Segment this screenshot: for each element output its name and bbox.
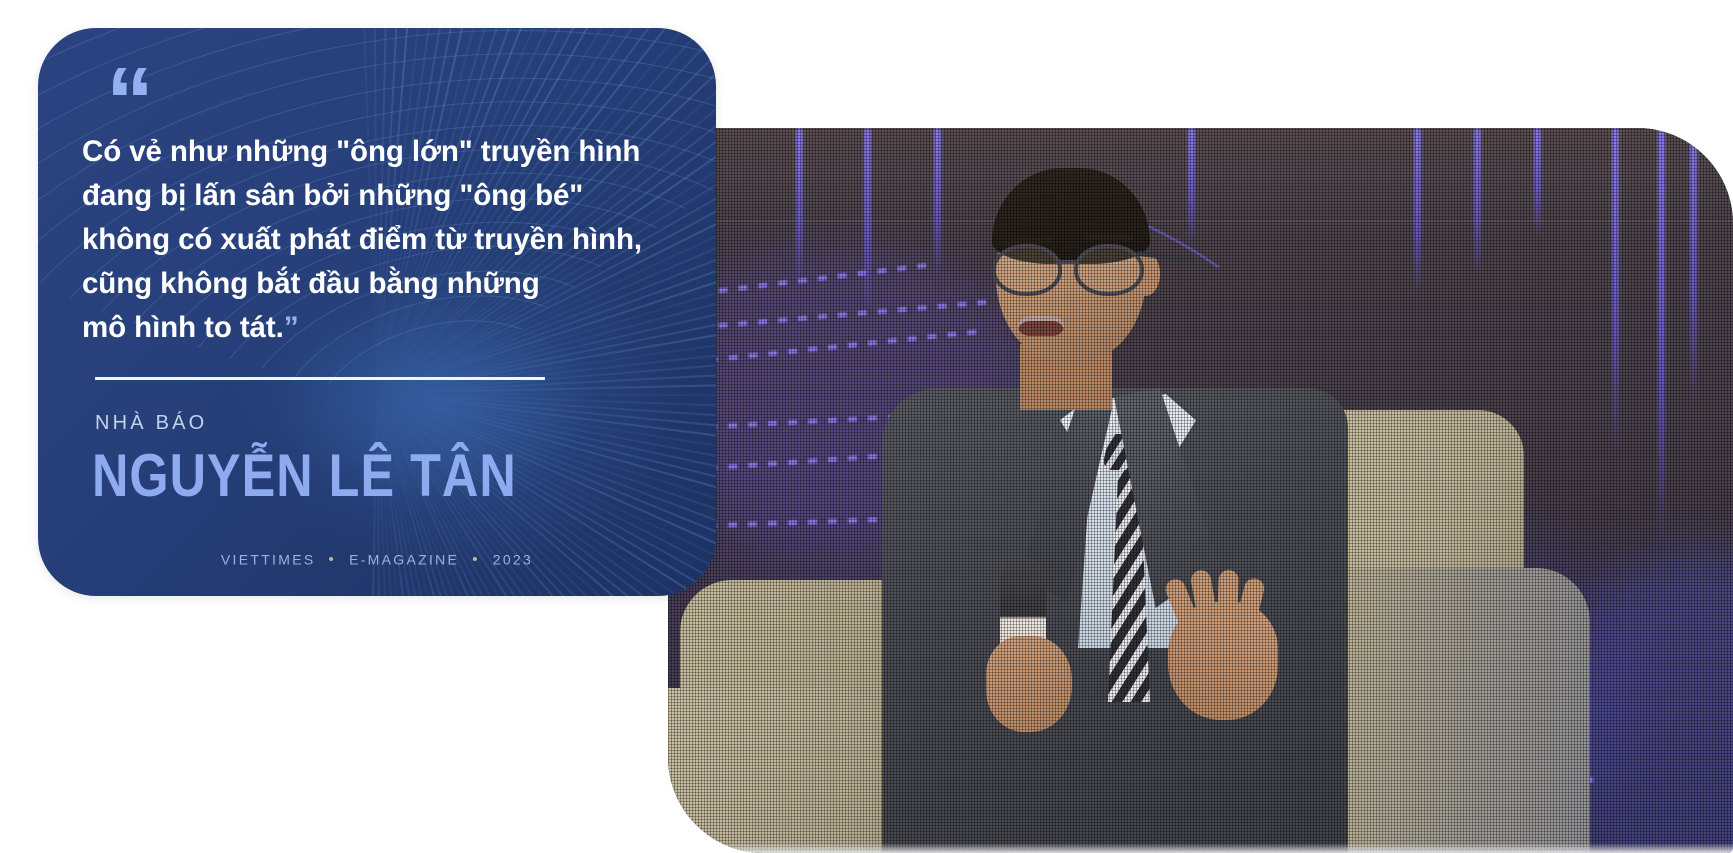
footer-brand: VIETTIMES: [221, 551, 316, 567]
led-pixel-grid: [668, 128, 1733, 853]
speaker-photo: [668, 128, 1733, 853]
close-quote-icon: ”: [284, 311, 298, 344]
footer-year: 2023: [493, 551, 533, 567]
photo-inner: [668, 128, 1733, 853]
role-label: NHÀ BÁO: [95, 412, 207, 435]
footer-separator-1: •: [329, 551, 337, 568]
footer-separator-2: •: [472, 551, 480, 568]
card-footer: VIETTIMES•E-MAGAZINE•2023: [38, 550, 716, 568]
quote-line-3: không có xuất phát điểm từ truyền hình,: [82, 223, 642, 256]
quote-text: Có vẻ như những "ông lớn" truyền hình đa…: [82, 130, 692, 350]
footer-section: E-MAGAZINE: [349, 551, 459, 567]
quote-line-5: mô hình to tát.: [82, 311, 284, 344]
e-magazine-quote-banner: “ Có vẻ như những "ông lớn" truyền hình …: [0, 0, 1733, 853]
person-name: NGUYỄN LÊ TÂN: [92, 446, 517, 506]
quote-line-4: cũng không bắt đầu bằng những: [82, 267, 540, 300]
divider: [95, 377, 545, 380]
quote-line-2: đang bị lấn sân bởi những "ông bé": [82, 179, 583, 212]
quote-card: “ Có vẻ như những "ông lớn" truyền hình …: [38, 28, 716, 596]
quote-line-1: Có vẻ như những "ông lớn" truyền hình: [82, 135, 640, 168]
photo-bottom-edge: [668, 843, 1733, 853]
